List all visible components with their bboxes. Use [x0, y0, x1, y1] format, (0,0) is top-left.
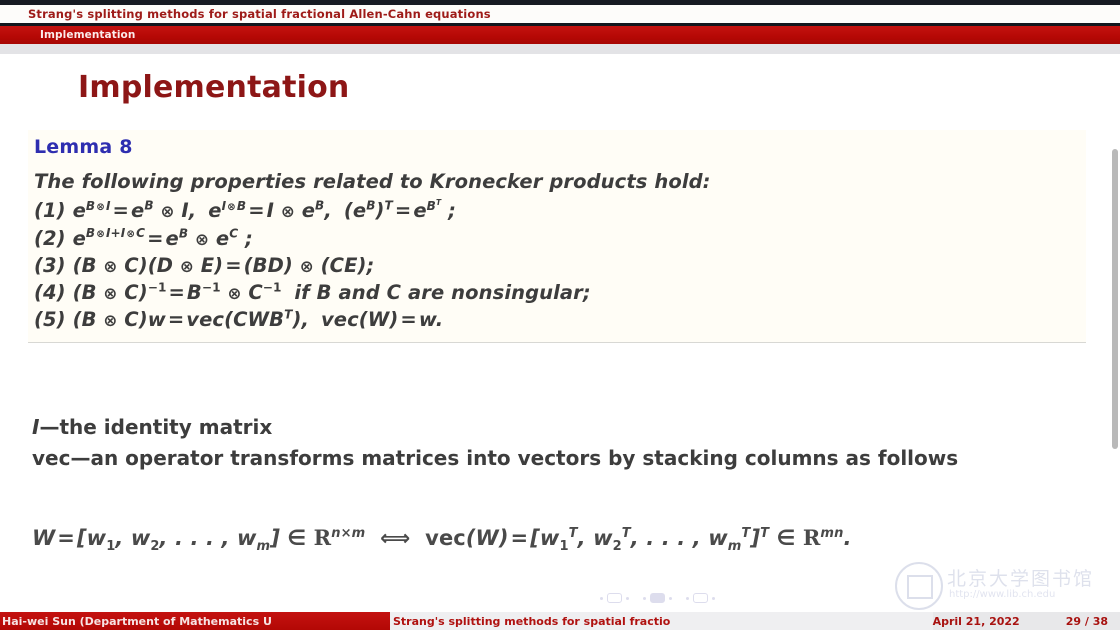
vertical-scrollbar-track[interactable] [1110, 54, 1120, 612]
footer-subject: Strang's splitting methods for spatial f… [390, 612, 933, 630]
slide-footer: Hai-wei Sun (Department of Mathematics U… [0, 612, 1120, 630]
header-white-gap [0, 54, 1120, 62]
presentation-title: Strang's splitting methods for spatial f… [0, 7, 491, 21]
nav-frame-icon[interactable] [643, 593, 672, 603]
slide-canvas: Strang's splitting methods for spatial f… [0, 0, 1120, 630]
lemma-intro-line: The following properties related to Kron… [34, 168, 1086, 195]
note-vec-operator: vec—an operator transforms matrices into… [32, 443, 1092, 474]
vertical-scrollbar-thumb[interactable] [1112, 149, 1118, 449]
header-title-bar: Strang's splitting methods for spatial f… [0, 5, 1120, 23]
nav-slide-icon[interactable] [600, 593, 629, 603]
frame-title: Implementation [78, 70, 349, 105]
footer-date: April 21, 2022 [933, 612, 1066, 630]
nav-subsection-icon[interactable] [686, 593, 715, 603]
lemma-item-5: (5) (B ⊗ C)w=vec(CWBT),vec(W)=w. [34, 306, 1086, 333]
display-equation: W=[w1, w2, . . . , wm] ∈ Rn×m ⟺ vec(W)=[… [32, 525, 1102, 550]
header-grey-strip [0, 44, 1120, 54]
footer-author: Hai-wei Sun (Department of Mathematics U [0, 612, 390, 630]
lemma-block: Lemma 8 The following properties related… [28, 130, 1086, 343]
footer-page-number: 29 / 38 [1066, 612, 1120, 630]
watermark-chinese-text: 北京大学图书馆 [947, 564, 1094, 591]
lemma-item-3: (3) (B ⊗ C)(D ⊗ E)=(BD) ⊗ (CE); [34, 252, 1086, 279]
lemma-item-4: (4) (B ⊗ C)−1=B−1 ⊗ C−1 if B and C are n… [34, 279, 1086, 306]
lemma-item-1: (1) eB⊗I=eB ⊗ I,eI⊗B=I ⊗ eB,(eB)T=eBT ; [34, 197, 1086, 224]
section-title: Implementation [0, 29, 135, 41]
lemma-heading: Lemma 8 [34, 136, 1086, 158]
watermark-url: http://www.lib.ch.edu [949, 589, 1055, 600]
header-section-bar[interactable]: Implementation [0, 26, 1120, 44]
notes-block: I—the identity matrix vec—an operator tr… [32, 412, 1092, 474]
lemma-item-2: (2) eB⊗I+I⊗C=eB ⊗ eC ; [34, 225, 1086, 252]
lemma-body: The following properties related to Kron… [34, 168, 1086, 334]
beamer-nav-symbols[interactable] [600, 590, 960, 606]
note-identity-matrix: I—the identity matrix [32, 412, 1092, 443]
